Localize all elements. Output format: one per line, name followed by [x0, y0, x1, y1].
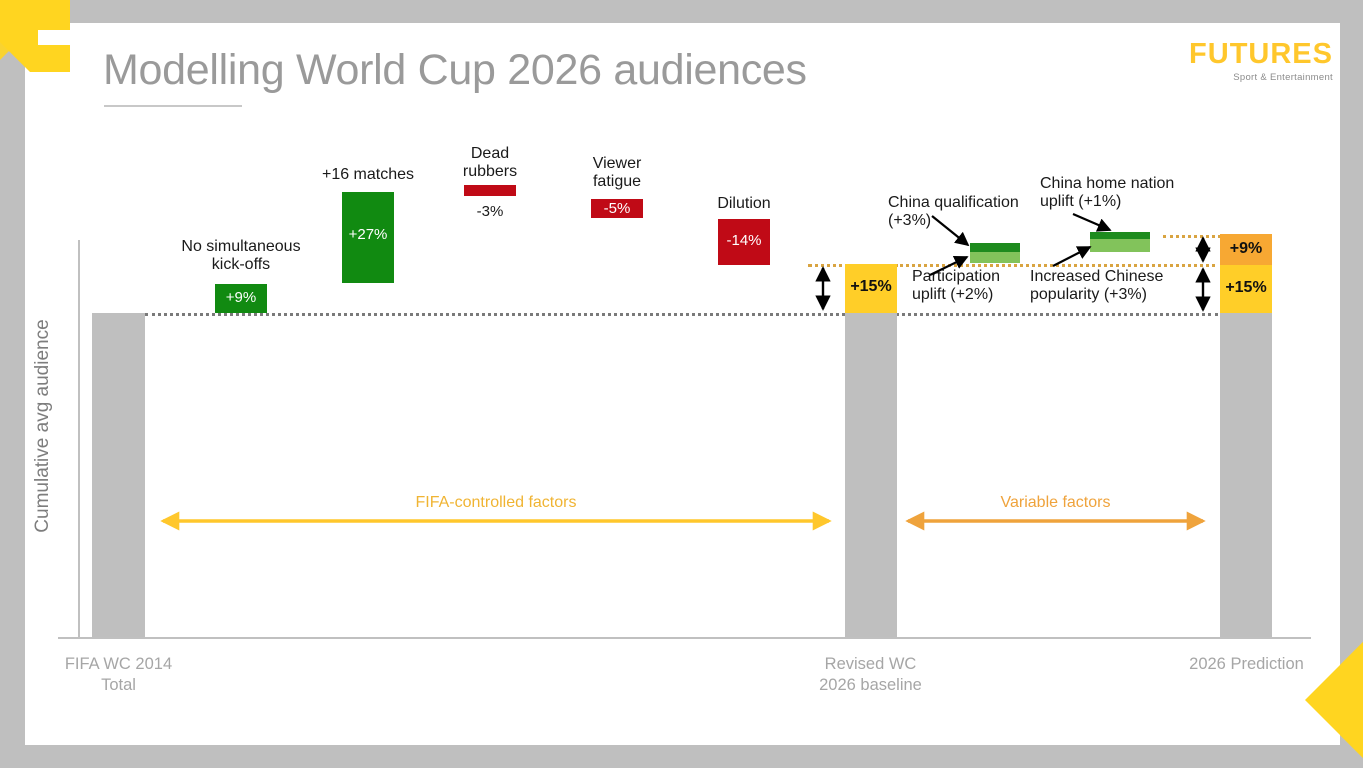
- callout-no-simultaneous-kickoffs: No simultaneous kick-offs: [166, 238, 316, 274]
- bar-label-2026-prediction-top: +9%: [1220, 240, 1272, 258]
- brand-logo: FUTURES Sport & Entertainment: [1167, 40, 1333, 83]
- callout-viewer-fatigue: Viewer fatigue: [542, 155, 692, 191]
- category-label-revised-wc-baseline-line2: 2026 baseline: [793, 675, 948, 696]
- background-band-bottom: [0, 745, 1363, 768]
- prediction-reference-line-left: [808, 264, 850, 267]
- callout-dilution-text: Dilution: [669, 195, 819, 213]
- background-band-top: [0, 0, 1363, 23]
- bar-dead-rubbers[interactable]: [464, 185, 516, 196]
- callout-china-qualification-line2: (+3%): [888, 212, 1068, 230]
- range-label-variable-factors: Variable factors: [908, 494, 1203, 512]
- baseline-reference-line: [145, 313, 1218, 316]
- category-label-revised-wc-baseline-line1: Revised WC: [793, 654, 948, 675]
- category-label-fifa-wc-2014-line1: FIFA WC 2014: [41, 654, 196, 675]
- background-band-left: [0, 0, 25, 768]
- callout-viewer-fatigue-line2: fatigue: [542, 173, 692, 191]
- category-label-2026-prediction-line1: 2026 Prediction: [1169, 654, 1324, 675]
- bar-label-no-simultaneous-kickoffs: +9%: [215, 289, 267, 306]
- logo-wordmark: FUTURES: [1167, 40, 1333, 69]
- prediction-reference-line-mid: [895, 264, 1215, 267]
- bar-china-qualification[interactable]: [970, 243, 1020, 252]
- bar-no-simultaneous-kickoffs[interactable]: +9%: [215, 284, 267, 313]
- slide-canvas: Modelling World Cup 2026 audiences FUTUR…: [0, 0, 1363, 768]
- category-label-2026-prediction: 2026 Prediction: [1169, 654, 1324, 675]
- bar-label-dead-rubbers: -3%: [464, 203, 516, 220]
- bar-label-16-matches: +27%: [342, 226, 394, 243]
- callout-increased-chinese-popularity-line2: popularity (+3%): [1030, 286, 1220, 304]
- bar-label-dilution: -14%: [718, 232, 770, 249]
- bar-label-2026-prediction-mid: +15%: [1220, 279, 1272, 297]
- callout-increased-chinese-popularity-line1: Increased Chinese: [1030, 268, 1220, 286]
- bar-label-revised-wc-baseline: +15%: [845, 278, 897, 296]
- callout-increased-chinese-popularity: Increased Chinese popularity (+3%): [1030, 268, 1220, 304]
- bar-2026-prediction-base[interactable]: [1220, 313, 1272, 637]
- range-label-fifa-controlled-factors: FIFA-controlled factors: [163, 494, 829, 512]
- category-label-fifa-wc-2014: FIFA WC 2014 Total: [41, 654, 196, 697]
- y-axis-line: [78, 240, 80, 638]
- bar-2026-prediction-variable-uplift[interactable]: +9%: [1220, 234, 1272, 265]
- callout-china-home-nation-line2: uplift (+1%): [1040, 193, 1230, 211]
- prediction-reference-line-right: [1163, 235, 1221, 238]
- title-underline: [104, 105, 242, 107]
- callout-china-home-nation: China home nation uplift (+1%): [1040, 175, 1230, 211]
- category-label-revised-wc-baseline: Revised WC 2026 baseline: [793, 654, 948, 697]
- bar-china-home-nation-uplift[interactable]: [1090, 232, 1150, 239]
- bar-16-matches[interactable]: +27%: [342, 192, 394, 283]
- logo-tagline: Sport & Entertainment: [1167, 72, 1333, 83]
- bar-increased-chinese-popularity[interactable]: [1090, 239, 1150, 252]
- x-axis-line: [58, 637, 1311, 639]
- bar-revised-wc-baseline-uplift[interactable]: +15%: [845, 264, 897, 313]
- callout-dilution: Dilution: [669, 195, 819, 213]
- callout-china-home-nation-line1: China home nation: [1040, 175, 1230, 193]
- bar-viewer-fatigue[interactable]: -5%: [591, 199, 643, 218]
- bar-revised-wc-baseline-base[interactable]: [845, 313, 897, 637]
- callout-no-simultaneous-kickoffs-line1: No simultaneous: [166, 238, 316, 256]
- bar-2026-prediction-baseline-uplift[interactable]: +15%: [1220, 265, 1272, 313]
- y-axis-title: Cumulative avg audience: [32, 311, 54, 541]
- bar-dilution[interactable]: -14%: [718, 219, 770, 265]
- bar-participation-uplift[interactable]: [970, 252, 1020, 263]
- bar-fifa-wc-2014-total[interactable]: [92, 313, 145, 637]
- callout-no-simultaneous-kickoffs-line2: kick-offs: [166, 256, 316, 274]
- background-band-right: [1340, 0, 1363, 768]
- bar-label-viewer-fatigue: -5%: [591, 200, 643, 217]
- category-label-fifa-wc-2014-line2: Total: [41, 675, 196, 696]
- page-title: Modelling World Cup 2026 audiences: [103, 46, 807, 95]
- callout-viewer-fatigue-line1: Viewer: [542, 155, 692, 173]
